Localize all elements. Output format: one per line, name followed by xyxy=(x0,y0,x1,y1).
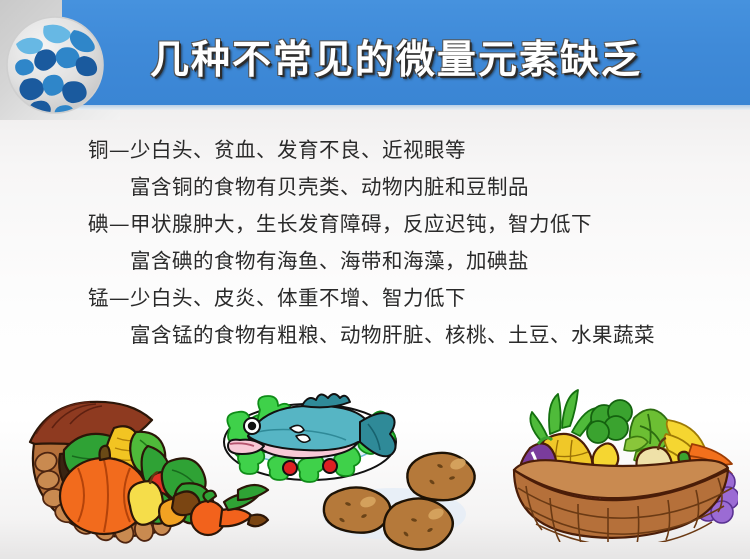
content-line: 锰—少白头、皮炎、体重不增、智力低下 xyxy=(0,280,750,317)
content-line: 铜—少白头、贫血、发育不良、近视眼等 xyxy=(0,132,750,169)
content-line: 富含锰的食物有粗粮、动物肝脏、核桃、土豆、水果蔬菜 xyxy=(0,317,750,354)
illustration-row xyxy=(0,372,750,559)
content-line: 碘—甲状腺肿大，生长发育障碍，反应迟钝，智力低下 xyxy=(0,206,750,243)
content-line: 富含铜的食物有贝壳类、动物内脏和豆制品 xyxy=(0,169,750,206)
title-banner-underline xyxy=(62,105,750,110)
globe-logo xyxy=(4,14,106,116)
page-title: 几种不常见的微量元素缺乏 xyxy=(150,30,730,92)
content-line: 富含碘的食物有海鱼、海带和海藻，加碘盐 xyxy=(0,243,750,280)
slide-canvas: 几种不常见的微量元素缺乏 铜—少白头、贫血、发育不良、近视眼等 富含铜的食物有贝… xyxy=(0,0,750,559)
content-body: 铜—少白头、贫血、发育不良、近视眼等 富含铜的食物有贝壳类、动物内脏和豆制品 碘… xyxy=(0,132,750,354)
fruit-vegetable-basket-illustration xyxy=(508,382,738,542)
potatoes-illustration xyxy=(318,444,503,554)
